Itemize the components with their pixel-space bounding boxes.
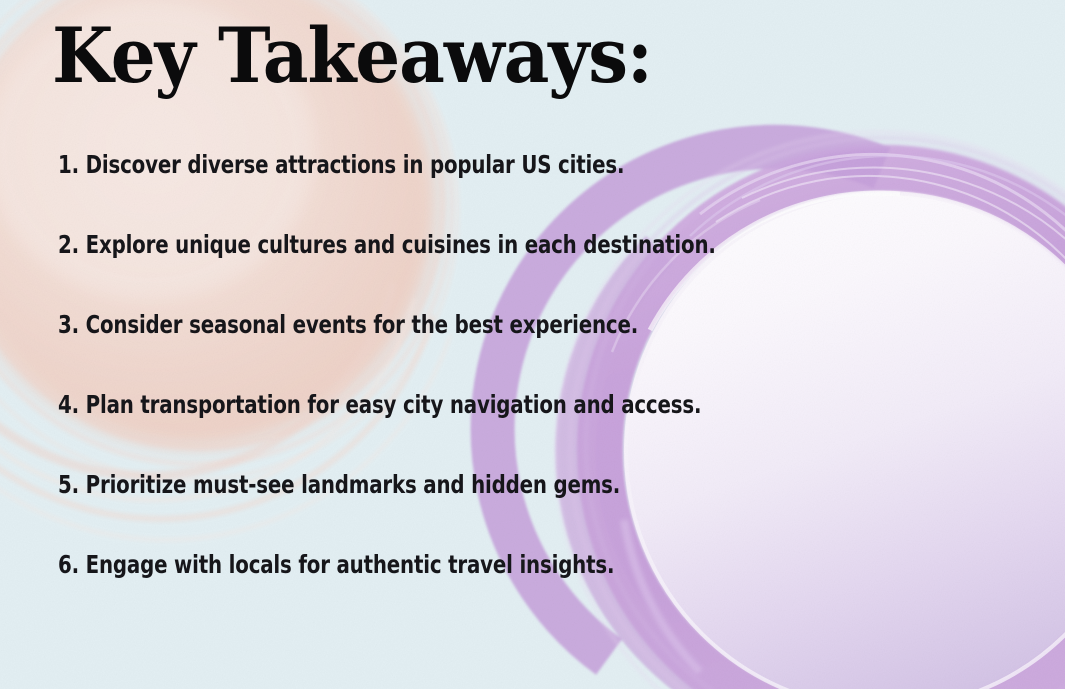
takeaways-list: 1. Discover diverse attractions in popul… [58, 152, 998, 577]
list-item: 2. Explore unique cultures and cuisines … [58, 232, 885, 257]
page-title: Key Takeaways: [52, 18, 652, 94]
poster-content: Key Takeaways: 1. Discover diverse attra… [0, 0, 1065, 689]
list-item: 3. Consider seasonal events for the best… [58, 312, 885, 337]
key-takeaways-poster: Key Takeaways: 1. Discover diverse attra… [0, 0, 1065, 689]
list-item: 1. Discover diverse attractions in popul… [58, 152, 885, 177]
list-item: 5. Prioritize must-see landmarks and hid… [58, 472, 885, 497]
list-item: 6. Engage with locals for authentic trav… [58, 552, 885, 577]
list-item: 4. Plan transportation for easy city nav… [58, 392, 885, 417]
